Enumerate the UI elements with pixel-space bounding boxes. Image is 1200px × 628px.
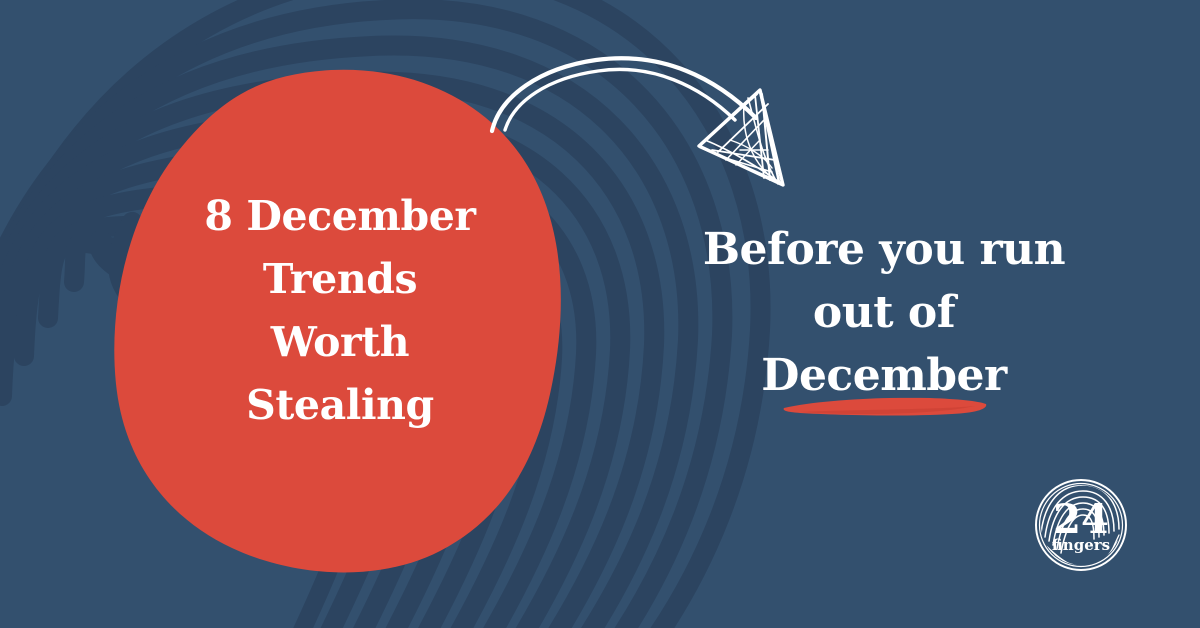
red-brush-underline bbox=[0, 0, 1200, 628]
banner-canvas: 8 December Trends Worth Stealing bbox=[0, 0, 1200, 628]
logo-wordmark: fingers bbox=[1052, 536, 1110, 554]
24-fingers-logo[interactable]: 24 fingers bbox=[1027, 471, 1135, 579]
